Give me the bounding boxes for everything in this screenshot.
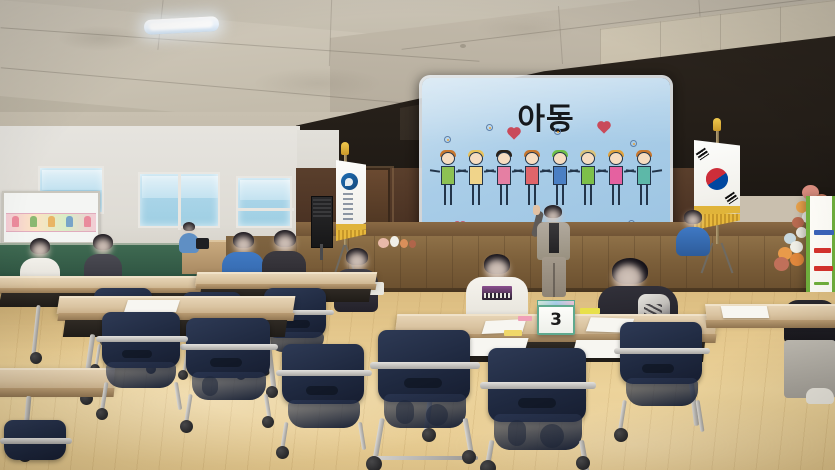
child-body (497, 166, 511, 185)
child-body (581, 166, 595, 185)
laptop (196, 238, 209, 249)
table-caster (30, 352, 42, 364)
child-body (553, 166, 567, 185)
child-legs (499, 185, 509, 207)
child-legs (555, 185, 565, 207)
child-head (469, 152, 483, 165)
child-head (637, 152, 651, 165)
flower-icon (444, 136, 451, 143)
sticky-note[interactable] (518, 316, 532, 321)
plush-toy (400, 239, 408, 248)
chair-mid-2[interactable] (96, 312, 188, 412)
child-head (525, 152, 539, 165)
ceiling-fixture-dot (460, 44, 466, 48)
chair-mid-3[interactable] (276, 344, 372, 450)
speaker-grille (313, 199, 331, 217)
shoe (806, 388, 834, 404)
table-number-value: 3 (550, 310, 562, 330)
window-2 (138, 172, 220, 228)
child-arm (430, 169, 440, 172)
child-body (637, 166, 651, 185)
balloon (774, 257, 789, 271)
plush-toy (390, 236, 399, 247)
speaker-stand (320, 244, 323, 260)
balloon (790, 241, 803, 253)
sticky-note[interactable] (504, 330, 522, 336)
sticky-note[interactable] (580, 308, 600, 314)
table-number-card: 3 (537, 305, 575, 335)
banner-text-line (814, 248, 831, 253)
child-figure (576, 150, 600, 220)
plush-toy (409, 240, 416, 248)
flower-icon (486, 124, 493, 131)
participant-9 (676, 210, 710, 256)
organization-emblem-icon (341, 173, 358, 190)
banner-motif (30, 216, 37, 227)
child-legs (443, 185, 453, 207)
banner-text-line (814, 230, 834, 235)
table-edge (706, 320, 835, 328)
window-3 (236, 176, 292, 228)
chair-mid-1[interactable] (180, 318, 278, 424)
tshirt-graphic-text (484, 293, 510, 298)
balloon (790, 253, 804, 266)
seminar-room-photo: 아동 (0, 0, 835, 470)
chair-front-2[interactable] (480, 348, 596, 470)
banner-motif (12, 216, 19, 227)
slide-title: 아동 (422, 94, 670, 138)
plush-toy (378, 238, 389, 248)
child-figure (492, 150, 516, 220)
child-head (441, 152, 455, 165)
banner-motif (66, 216, 73, 227)
child-arm (652, 169, 662, 172)
child-legs (583, 185, 593, 207)
child-figure (632, 150, 656, 220)
presenter-inner-shirt (549, 223, 559, 253)
child-legs (527, 185, 537, 207)
organization-flag-text (343, 193, 353, 223)
child-head (609, 152, 623, 165)
child-head (553, 152, 567, 165)
banner-motif (48, 216, 55, 227)
chair-front-1[interactable] (370, 330, 480, 454)
child-body (441, 166, 455, 185)
flag-finial (341, 142, 349, 155)
child-body (609, 166, 623, 185)
presenter (532, 205, 576, 297)
child-figure (464, 150, 488, 220)
handout-paper[interactable] (721, 306, 770, 318)
child-head (497, 152, 511, 165)
chair-front-3[interactable] (614, 322, 710, 432)
banner-text-line (814, 266, 833, 271)
presenter-hand (533, 205, 540, 215)
presenter-trouser-seam (553, 263, 555, 297)
child-legs (471, 185, 481, 207)
chair-foreground[interactable] (0, 420, 72, 470)
flower-icon (554, 128, 561, 135)
child-figure (604, 150, 628, 220)
child-body (469, 166, 483, 185)
banner-text-line (814, 282, 829, 285)
child-legs (611, 185, 621, 207)
child-body (525, 166, 539, 185)
banner-motif (84, 216, 91, 227)
handout-paper[interactable] (124, 300, 180, 312)
child-figure (436, 150, 460, 220)
flag-finial (713, 118, 721, 131)
child-head (581, 152, 595, 165)
child-legs (639, 185, 649, 207)
